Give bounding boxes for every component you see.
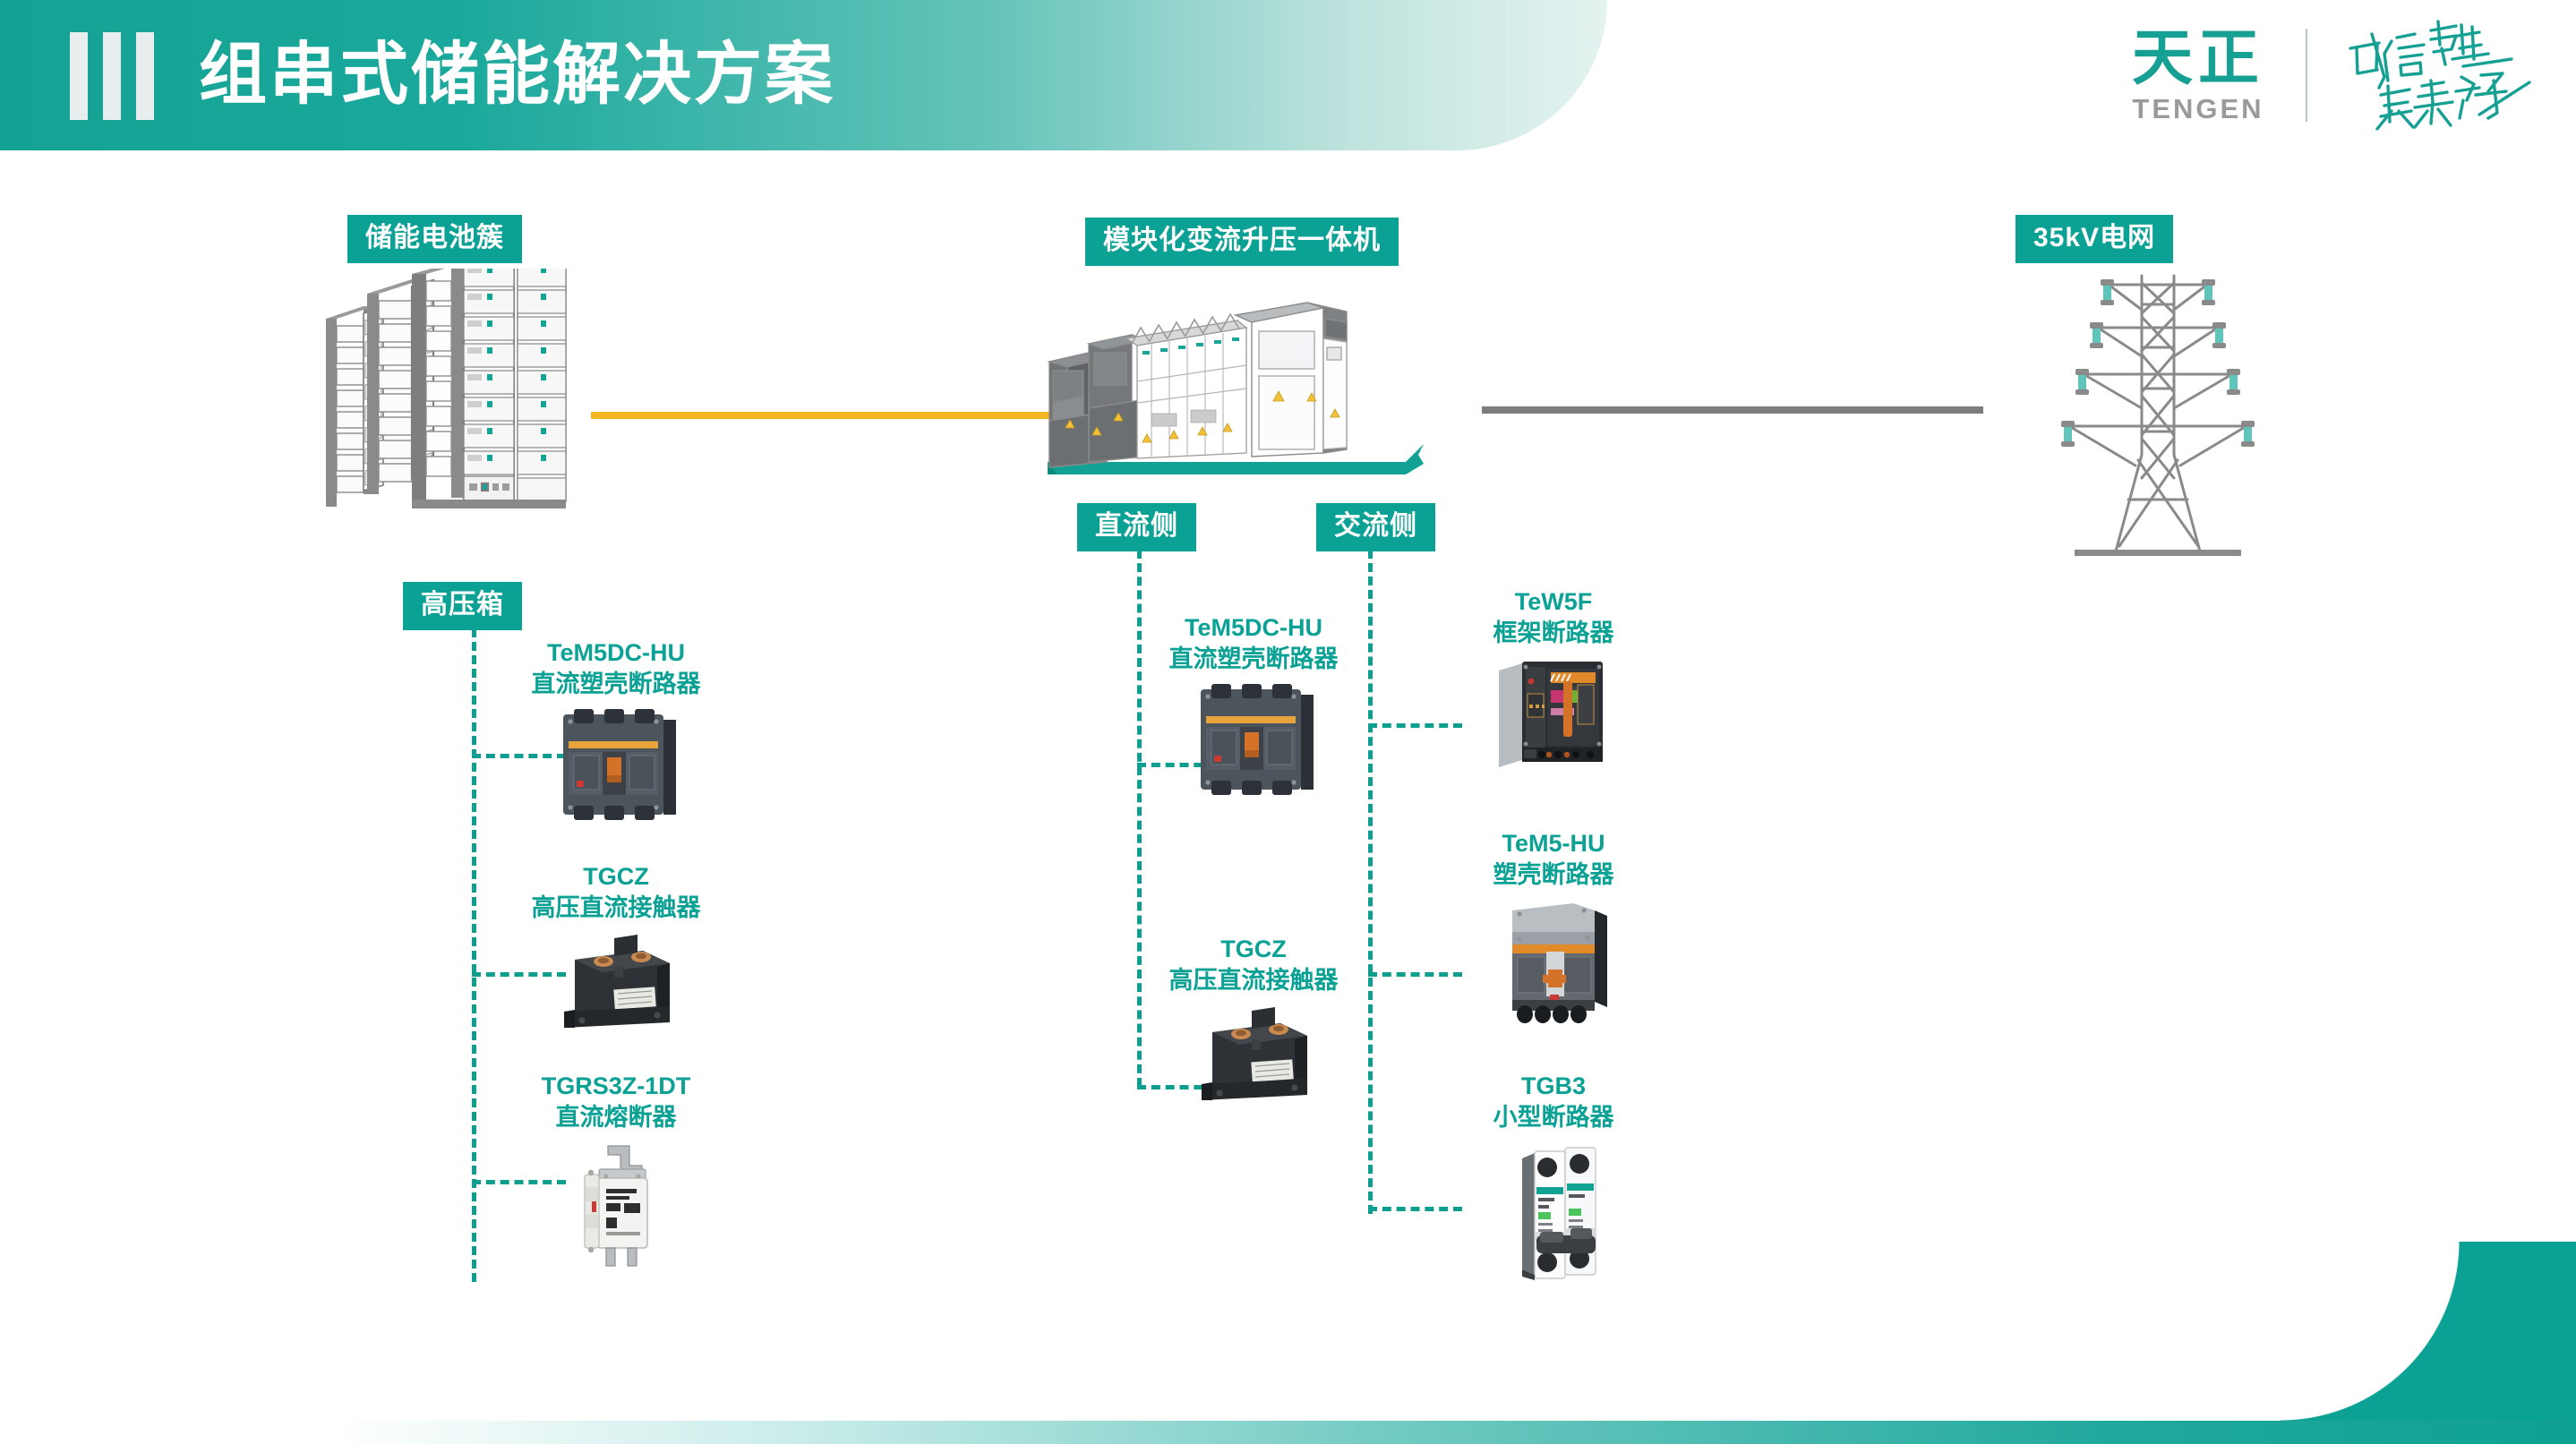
dc-fuse-photo [482, 1139, 750, 1273]
dc-bus-line [591, 412, 1065, 419]
dc-molded-case-circuit-breaker-photo [482, 705, 750, 822]
component-name: 直流熔断器 [482, 1101, 750, 1133]
tag-modular-converter: 模块化变流升压一体机 [1085, 218, 1399, 266]
component-card: TGCZ 高压直流接触器 [1115, 934, 1392, 1109]
component-card: TeM5DC-HU 直流塑壳断路器 [482, 637, 750, 822]
footer-gradient-bar [0, 1421, 2576, 1444]
component-model: TGB3 [1424, 1071, 1683, 1101]
component-model: TeM5-HU [1424, 828, 1683, 859]
dc-molded-case-circuit-breaker-photo [1115, 680, 1392, 797]
ac-bus-line [1482, 406, 1983, 414]
component-card: TeM5-HU 塑壳断路器 [1424, 828, 1683, 1030]
page-header: 组串式储能解决方案 [0, 0, 1607, 150]
tag-grid: 35kV电网 [2015, 215, 2173, 263]
component-model: TGCZ [482, 861, 750, 892]
component-card: TGCZ 高压直流接触器 [482, 861, 750, 1037]
modular-converter-booster-container-illustration [1039, 295, 1442, 488]
brand-logo: 天正 TENGEN [2132, 16, 2533, 134]
hv-dc-contactor-photo [482, 929, 750, 1037]
component-model: TeW5F [1424, 586, 1683, 617]
logo-name-en: TENGEN [2132, 93, 2264, 125]
component-card: TeM5DC-HU 直流塑壳断路器 [1115, 612, 1392, 797]
component-model: TeM5DC-HU [1115, 612, 1392, 643]
tag-battery-cluster: 储能电池簇 [347, 215, 522, 263]
tag-dc-side: 直流侧 [1077, 503, 1196, 551]
component-name: 高压直流接触器 [482, 892, 750, 924]
component-name: 塑壳断路器 [1424, 859, 1683, 891]
component-model: TeM5DC-HU [482, 637, 750, 668]
tag-high-voltage-box: 高压箱 [403, 582, 522, 630]
logo-name-cn: 天正 [2132, 25, 2264, 91]
slide-canvas: 组串式储能解决方案 天正 TENGEN [0, 0, 2576, 1444]
component-name: 直流塑壳断路器 [482, 668, 750, 700]
component-name: 框架断路器 [1424, 617, 1683, 649]
transmission-tower-illustration [2010, 267, 2306, 562]
air-circuit-breaker-photo [1424, 654, 1683, 771]
component-card: TeW5F 框架断路器 [1424, 586, 1683, 771]
component-model: TGRS3Z-1DT [482, 1071, 750, 1101]
corner-curve-decoration [2281, 1242, 2576, 1421]
component-name: 小型断路器 [1424, 1101, 1683, 1133]
tag-ac-side: 交流侧 [1316, 503, 1435, 551]
component-name: 高压直流接触器 [1115, 964, 1392, 996]
logo-mark: 天正 TENGEN [2132, 25, 2306, 125]
miniature-circuit-breaker-photo [1424, 1139, 1683, 1291]
component-card: TGB3 小型断路器 [1424, 1071, 1683, 1291]
hv-dc-contactor-photo [1115, 1002, 1392, 1109]
component-name: 直流塑壳断路器 [1115, 643, 1392, 675]
molded-case-circuit-breaker-photo [1424, 896, 1683, 1030]
brand-slogan-handwriting-icon [2307, 18, 2533, 132]
battery-rack-cluster-illustration [322, 269, 591, 564]
page-title: 组串式储能解决方案 [199, 27, 835, 124]
three-vertical-bars-icon [70, 32, 154, 120]
component-card: TGRS3Z-1DT 直流熔断器 [482, 1071, 750, 1273]
component-model: TGCZ [1115, 934, 1392, 964]
